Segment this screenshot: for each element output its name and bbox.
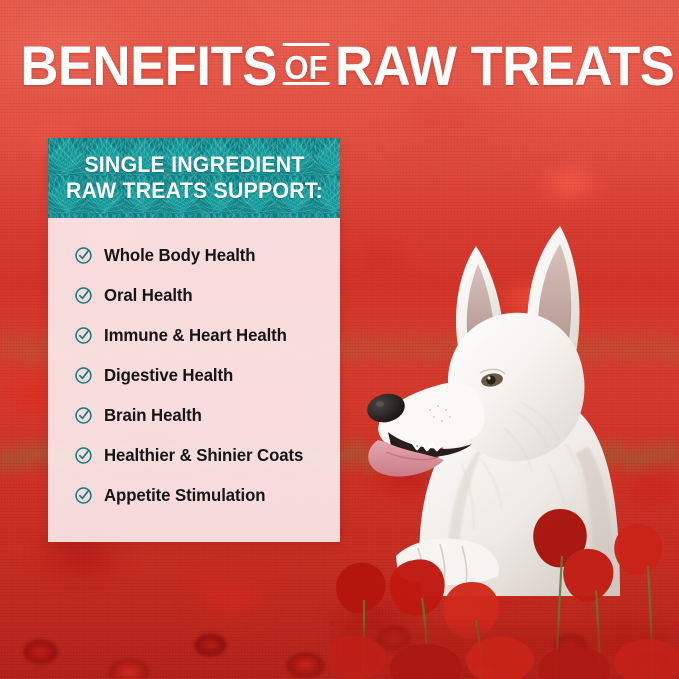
- check-circle-icon: [74, 326, 93, 345]
- card-header: SINGLE INGREDIENT RAW TREATS SUPPORT:: [48, 138, 340, 218]
- headline-raw-treats: RAW TREATS: [335, 38, 674, 94]
- check-circle-icon: [74, 446, 93, 465]
- check-circle-icon: [74, 246, 93, 265]
- list-item-6: Healthier & Shinier Coats: [48, 436, 340, 476]
- poster-canvas: BENEFITSOFRAW TREATS SINGLE INGREDIENT R…: [0, 0, 679, 679]
- check-circle-icon: [74, 366, 93, 385]
- list-item-3: Immune & Heart Health: [48, 316, 340, 356]
- headline-of: OF: [283, 51, 328, 84]
- list-item-label: Oral Health: [104, 287, 193, 305]
- list-item-label: Appetite Stimulation: [104, 487, 265, 505]
- list-item-label: Immune & Heart Health: [104, 327, 287, 345]
- check-circle-icon: [74, 486, 93, 505]
- list-item-label: Healthier & Shinier Coats: [104, 447, 303, 465]
- card-header-line-1: SINGLE INGREDIENT: [65, 152, 322, 178]
- card-header-line-2: RAW TREATS SUPPORT:: [65, 178, 322, 204]
- list-item-label: Whole Body Health: [104, 247, 255, 265]
- list-item-2: Oral Health: [48, 276, 340, 316]
- benefits-card: SINGLE INGREDIENT RAW TREATS SUPPORT: Wh…: [48, 138, 340, 542]
- card-header-text: SINGLE INGREDIENT RAW TREATS SUPPORT:: [65, 152, 322, 203]
- check-circle-icon: [74, 406, 93, 425]
- list-item-1: Whole Body Health: [48, 236, 340, 276]
- list-item-label: Digestive Health: [104, 367, 233, 385]
- headline-benefits: BENEFITS: [20, 38, 277, 94]
- page-title: BENEFITSOFRAW TREATS: [20, 38, 658, 94]
- list-item-7: Appetite Stimulation: [48, 476, 340, 516]
- list-item-5: Brain Health: [48, 396, 340, 436]
- list-item-4: Digestive Health: [48, 356, 340, 396]
- list-item-label: Brain Health: [104, 407, 202, 425]
- benefits-list: Whole Body Health Oral Health Immune & H…: [48, 218, 340, 542]
- check-circle-icon: [74, 286, 93, 305]
